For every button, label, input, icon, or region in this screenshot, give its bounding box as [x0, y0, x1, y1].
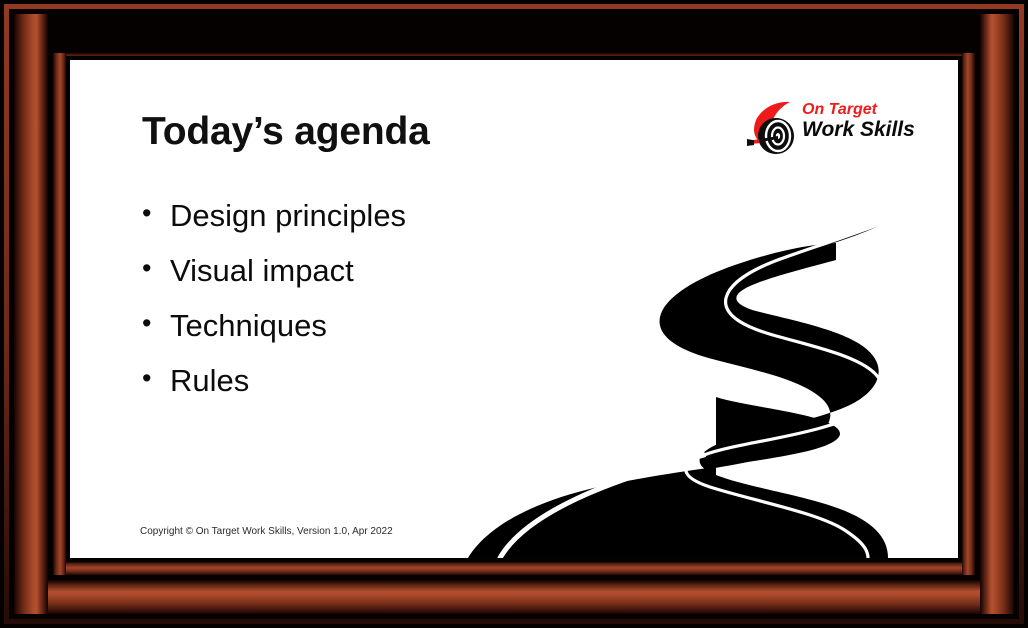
bullet-icon: •: [142, 310, 151, 337]
bullet-icon: •: [142, 200, 151, 227]
presentation-slide: Today’s agenda • Design principles • Vis…: [70, 60, 958, 558]
list-item: • Design principles: [138, 200, 558, 231]
brand-logo-text: On Target Work Skills: [802, 102, 915, 141]
list-item: • Rules: [138, 365, 558, 396]
frame-main-band-bottom: [14, 580, 1014, 614]
bullet-icon: •: [142, 255, 151, 282]
brand-logo: On Target Work Skills: [746, 98, 916, 160]
frame-inner-band-right: [962, 53, 975, 575]
frame-main-band-right: [980, 14, 1014, 614]
brand-logo-line1: On Target: [802, 102, 915, 119]
frame-main-band-top: [14, 14, 1014, 48]
on-target-bullseye-arrow-icon: [746, 100, 804, 156]
agenda-list: • Design principles • Visual impact • Te…: [138, 200, 558, 420]
list-item-label: Rules: [170, 363, 249, 398]
copyright-notice: Copyright © On Target Work Skills, Versi…: [140, 526, 393, 537]
brand-logo-line2: Work Skills: [802, 119, 915, 141]
list-item-label: Techniques: [170, 308, 327, 343]
bullet-icon: •: [142, 365, 151, 392]
frame-main-band-left: [14, 14, 48, 614]
list-item-label: Visual impact: [170, 253, 354, 288]
list-item: • Visual impact: [138, 255, 558, 286]
frame-inner-band-left: [53, 53, 66, 575]
list-item-label: Design principles: [170, 198, 406, 233]
frame-inner-band-bottom: [53, 562, 975, 575]
picture-frame: Today’s agenda • Design principles • Vis…: [0, 0, 1028, 628]
page-title: Today’s agenda: [142, 110, 430, 154]
list-item: • Techniques: [138, 310, 558, 341]
